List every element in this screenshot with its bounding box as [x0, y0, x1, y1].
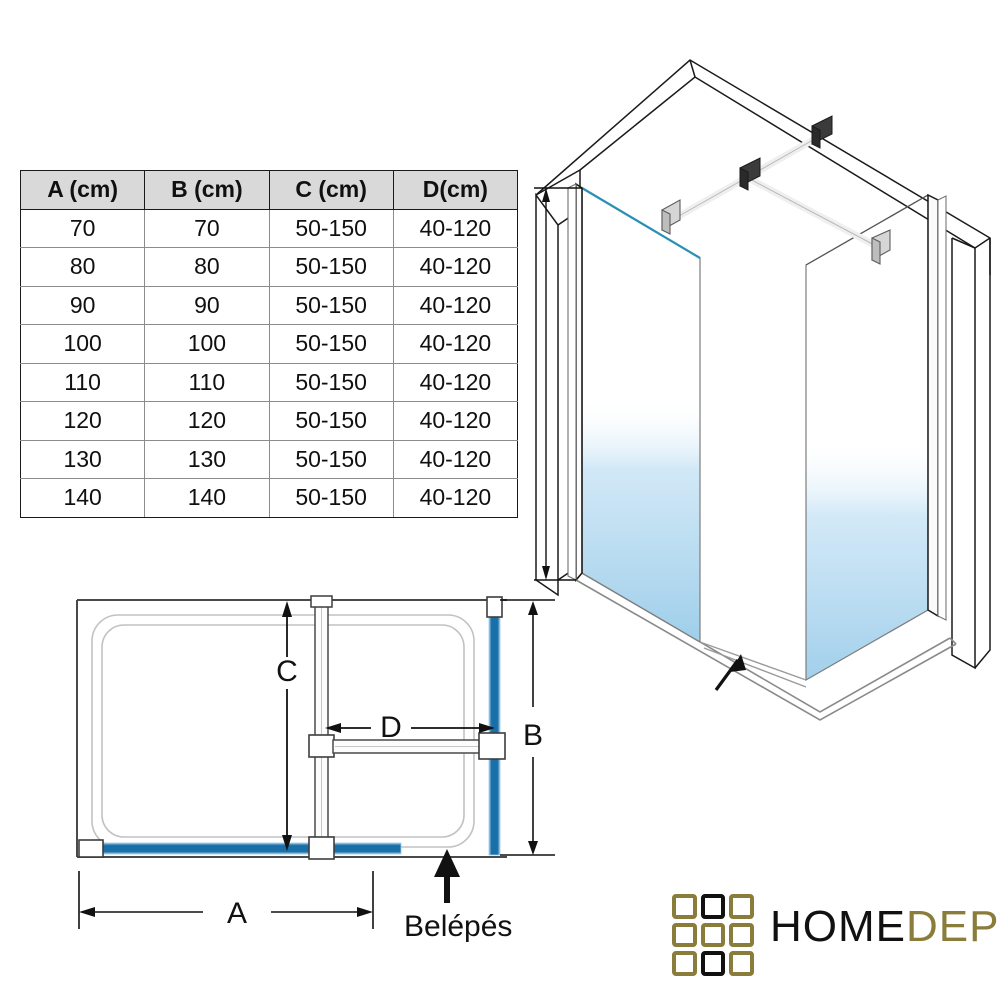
logo-wordmark: HOMEDEPO — [770, 902, 1000, 952]
cell-c: 50-150 — [269, 363, 393, 402]
bracket-left — [662, 200, 680, 234]
dimension-label-d: D — [380, 711, 402, 744]
wall-profile-left — [79, 840, 103, 857]
dimension-label-a: A — [227, 897, 247, 930]
dimension-label-c: C — [276, 655, 298, 688]
cell-b: 130 — [145, 440, 269, 479]
table-row: 120 120 50-150 40-120 — [21, 402, 518, 441]
table-header-d: D(cm) — [393, 171, 517, 210]
logo-cell — [729, 894, 754, 919]
support-bar-horizontal — [333, 733, 505, 759]
cell-b: 110 — [145, 363, 269, 402]
table-header-c: C (cm) — [269, 171, 393, 210]
dimension-d — [325, 723, 495, 733]
cell-a: 90 — [21, 286, 145, 325]
table-row: 70 70 50-150 40-120 — [21, 209, 518, 248]
logo-cell — [729, 951, 754, 976]
logo-text-home: HOME — [770, 902, 906, 951]
cell-c: 50-150 — [269, 402, 393, 441]
cell-d: 40-120 — [393, 363, 517, 402]
cell-d: 40-120 — [393, 440, 517, 479]
cell-a: 110 — [21, 363, 145, 402]
glass-panel-left — [568, 184, 700, 642]
table-header-b: B (cm) — [145, 171, 269, 210]
cell-c: 50-150 — [269, 286, 393, 325]
table-header-a: A (cm) — [21, 171, 145, 210]
entry-label-plan: Belépés — [404, 910, 512, 944]
cell-c: 50-150 — [269, 325, 393, 364]
cell-a: 100 — [21, 325, 145, 364]
cell-c: 50-150 — [269, 440, 393, 479]
cell-c: 50-150 — [269, 209, 393, 248]
logo-text-depo: DEPO — [906, 902, 1000, 951]
cell-c: 50-150 — [269, 248, 393, 287]
wall-profile-top-right — [487, 597, 502, 617]
table-row: 140 140 50-150 40-120 — [21, 479, 518, 518]
table-row: 80 80 50-150 40-120 — [21, 248, 518, 287]
table-header-row: A (cm) B (cm) C (cm) D(cm) — [21, 171, 518, 210]
dimension-label-b: B — [523, 719, 543, 752]
cell-d: 40-120 — [393, 286, 517, 325]
cell-a: 80 — [21, 248, 145, 287]
diagram-canvas: A (cm) B (cm) C (cm) D(cm) 70 70 50-150 … — [0, 0, 1000, 1000]
cell-b: 80 — [145, 248, 269, 287]
cell-b: 140 — [145, 479, 269, 518]
logo-cell — [672, 951, 697, 976]
cell-d: 40-120 — [393, 479, 517, 518]
dimension-c — [282, 601, 292, 851]
logo-cell — [729, 923, 754, 948]
cell-a: 70 — [21, 209, 145, 248]
floor-seam — [700, 642, 806, 687]
table-body: 70 70 50-150 40-120 80 80 50-150 40-120 … — [21, 209, 518, 517]
shower-tray-plan — [92, 615, 474, 847]
logo-grid-icon — [672, 894, 754, 976]
cell-b: 90 — [145, 286, 269, 325]
isometric-view: 200 Belépés — [520, 20, 1000, 790]
cell-d: 40-120 — [393, 402, 517, 441]
homedepo-logo: HOMEDEPO — [672, 888, 984, 984]
plan-view: C D B — [55, 585, 565, 985]
logo-cell — [701, 951, 726, 976]
cell-b: 100 — [145, 325, 269, 364]
logo-cell — [672, 923, 697, 948]
logo-cell — [701, 894, 726, 919]
table-row: 100 100 50-150 40-120 — [21, 325, 518, 364]
cell-a: 140 — [21, 479, 145, 518]
cell-b: 120 — [145, 402, 269, 441]
glass-panel-horizontal — [102, 843, 401, 854]
logo-cell — [672, 894, 697, 919]
table-row: 130 130 50-150 40-120 — [21, 440, 518, 479]
isometric-drawing — [520, 20, 1000, 790]
cell-d: 40-120 — [393, 325, 517, 364]
cell-a: 130 — [21, 440, 145, 479]
cell-c: 50-150 — [269, 479, 393, 518]
table-row: 90 90 50-150 40-120 — [21, 286, 518, 325]
cell-b: 70 — [145, 209, 269, 248]
table-row: 110 110 50-150 40-120 — [21, 363, 518, 402]
cell-d: 40-120 — [393, 248, 517, 287]
logo-cell — [701, 923, 726, 948]
dimension-table: A (cm) B (cm) C (cm) D(cm) 70 70 50-150 … — [20, 170, 518, 518]
cell-a: 120 — [21, 402, 145, 441]
cell-d: 40-120 — [393, 209, 517, 248]
glass-panel-right — [806, 195, 946, 680]
